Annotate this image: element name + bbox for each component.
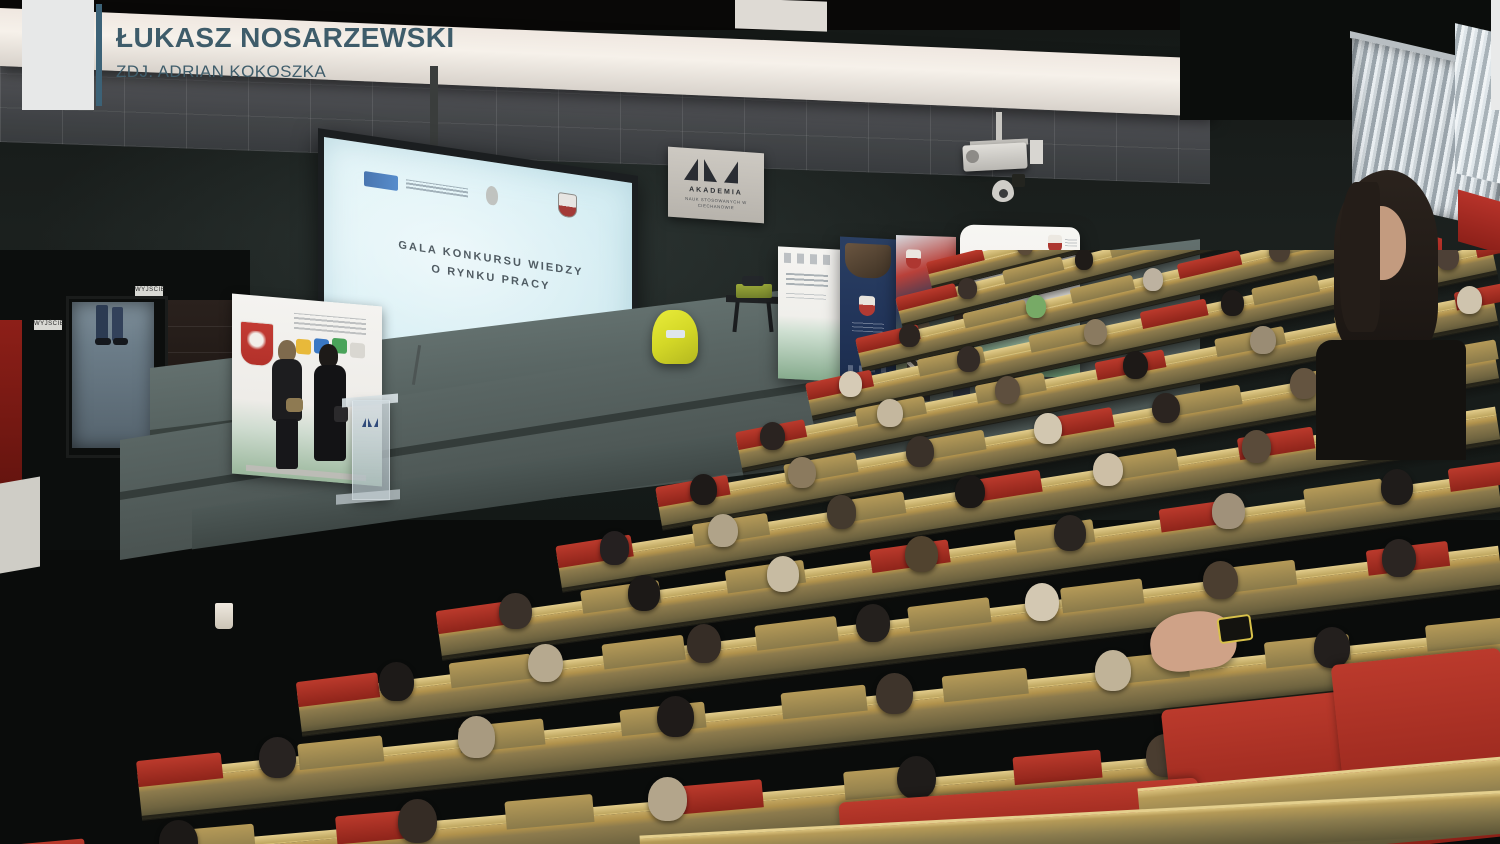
audience-member-head bbox=[1203, 561, 1237, 600]
venue-wall-sign: AKADEMIA NAUK STOSOWANYCH W CIECHANOWIE bbox=[668, 147, 764, 224]
audience-member-head bbox=[690, 474, 718, 505]
audience-member-head bbox=[708, 514, 738, 547]
audience-member-head bbox=[905, 536, 937, 572]
audience-member-head bbox=[648, 777, 687, 821]
audience-member-head bbox=[379, 662, 413, 701]
audience-member-head bbox=[897, 756, 936, 800]
audience-member-head bbox=[1075, 250, 1093, 270]
audience-member-head bbox=[958, 278, 976, 298]
lower-third-right-strip bbox=[1491, 0, 1500, 110]
audience-member-head bbox=[1026, 295, 1047, 318]
wristwatch-icon bbox=[1216, 614, 1253, 644]
audience-member-head bbox=[906, 436, 934, 467]
audience-member-head bbox=[957, 346, 980, 372]
sign-subtitle: NAUK STOSOWANYCH W CIECHANOWIE bbox=[668, 195, 764, 214]
audience-member-head bbox=[1093, 453, 1123, 486]
audience-member-head bbox=[877, 399, 902, 427]
audience-member-head bbox=[1382, 539, 1416, 578]
seat-back bbox=[0, 838, 86, 844]
audience-member-head bbox=[1034, 413, 1062, 444]
audience-member-head bbox=[1381, 469, 1413, 505]
audience-member-head bbox=[955, 475, 985, 508]
audience-member-head bbox=[767, 556, 799, 592]
audience-member-head bbox=[876, 673, 913, 714]
audience-member-head bbox=[1054, 515, 1086, 551]
audience-member-head bbox=[1221, 290, 1244, 316]
camera-arm bbox=[1012, 174, 1025, 187]
audience-member-head bbox=[1314, 627, 1351, 668]
audience-member-head bbox=[1025, 583, 1059, 622]
attendee-hair-front bbox=[1340, 182, 1380, 332]
audience-member-head bbox=[1457, 286, 1482, 314]
photo-credit: ZDJ. ADRIAN KOKOSZKA bbox=[116, 62, 326, 82]
audience-member-head bbox=[458, 716, 495, 757]
audience-member-head bbox=[760, 422, 785, 450]
slide-logo-primary-icon bbox=[364, 171, 398, 191]
audience-member-head bbox=[657, 696, 694, 737]
audience-member-head bbox=[995, 376, 1020, 404]
audience-member-head bbox=[528, 644, 562, 683]
camera-lens-icon bbox=[999, 189, 1008, 198]
audience-member-head bbox=[1095, 650, 1132, 691]
audience-member-head bbox=[839, 371, 862, 397]
slide-logo-emblem-icon bbox=[486, 185, 498, 206]
audience-member-head bbox=[1123, 351, 1148, 379]
slide-logo-crest-icon bbox=[558, 192, 577, 219]
projector-side-box bbox=[1030, 140, 1043, 164]
ceiling-speaker-box bbox=[735, 0, 827, 32]
audience-member-head bbox=[259, 737, 296, 778]
sign-triangle-right-icon bbox=[724, 161, 738, 184]
audience-member-head bbox=[600, 531, 630, 564]
screen-support-rod bbox=[430, 66, 438, 150]
slide-logo-wordmark bbox=[406, 179, 468, 197]
sign-triangle-left-icon bbox=[684, 158, 698, 181]
banner-d-logo bbox=[1065, 238, 1077, 246]
audience-member-head bbox=[856, 604, 890, 643]
lower-third-accent-bar bbox=[96, 4, 102, 106]
sign-triangle-mid-icon bbox=[704, 159, 717, 182]
paper-cup bbox=[215, 603, 233, 629]
broadcast-frame: WYJŚCIE WYJŚCIE GALA KONKURSU WIEDZY O R… bbox=[0, 0, 1500, 844]
audience-member-head bbox=[1212, 493, 1244, 529]
audience-member-head bbox=[1152, 393, 1180, 424]
audience-member-head bbox=[1084, 319, 1107, 345]
audience-member-head bbox=[899, 324, 920, 347]
audience-member-head bbox=[687, 624, 721, 663]
lower-third-gray-block bbox=[22, 0, 94, 110]
foreground-attendee bbox=[1300, 170, 1460, 460]
audience-member-head bbox=[788, 457, 816, 488]
audience-member-head bbox=[398, 799, 437, 843]
audience-member-head bbox=[827, 495, 857, 528]
audience-member-head bbox=[499, 593, 531, 629]
audience-member-head bbox=[1242, 430, 1272, 463]
audience-member-head bbox=[628, 575, 660, 611]
attendee-torso bbox=[1316, 340, 1466, 460]
audience-member-head bbox=[1250, 326, 1275, 354]
speaker-name: ŁUKASZ NOSARZEWSKI bbox=[116, 22, 455, 54]
audience-member-head bbox=[1143, 268, 1164, 291]
